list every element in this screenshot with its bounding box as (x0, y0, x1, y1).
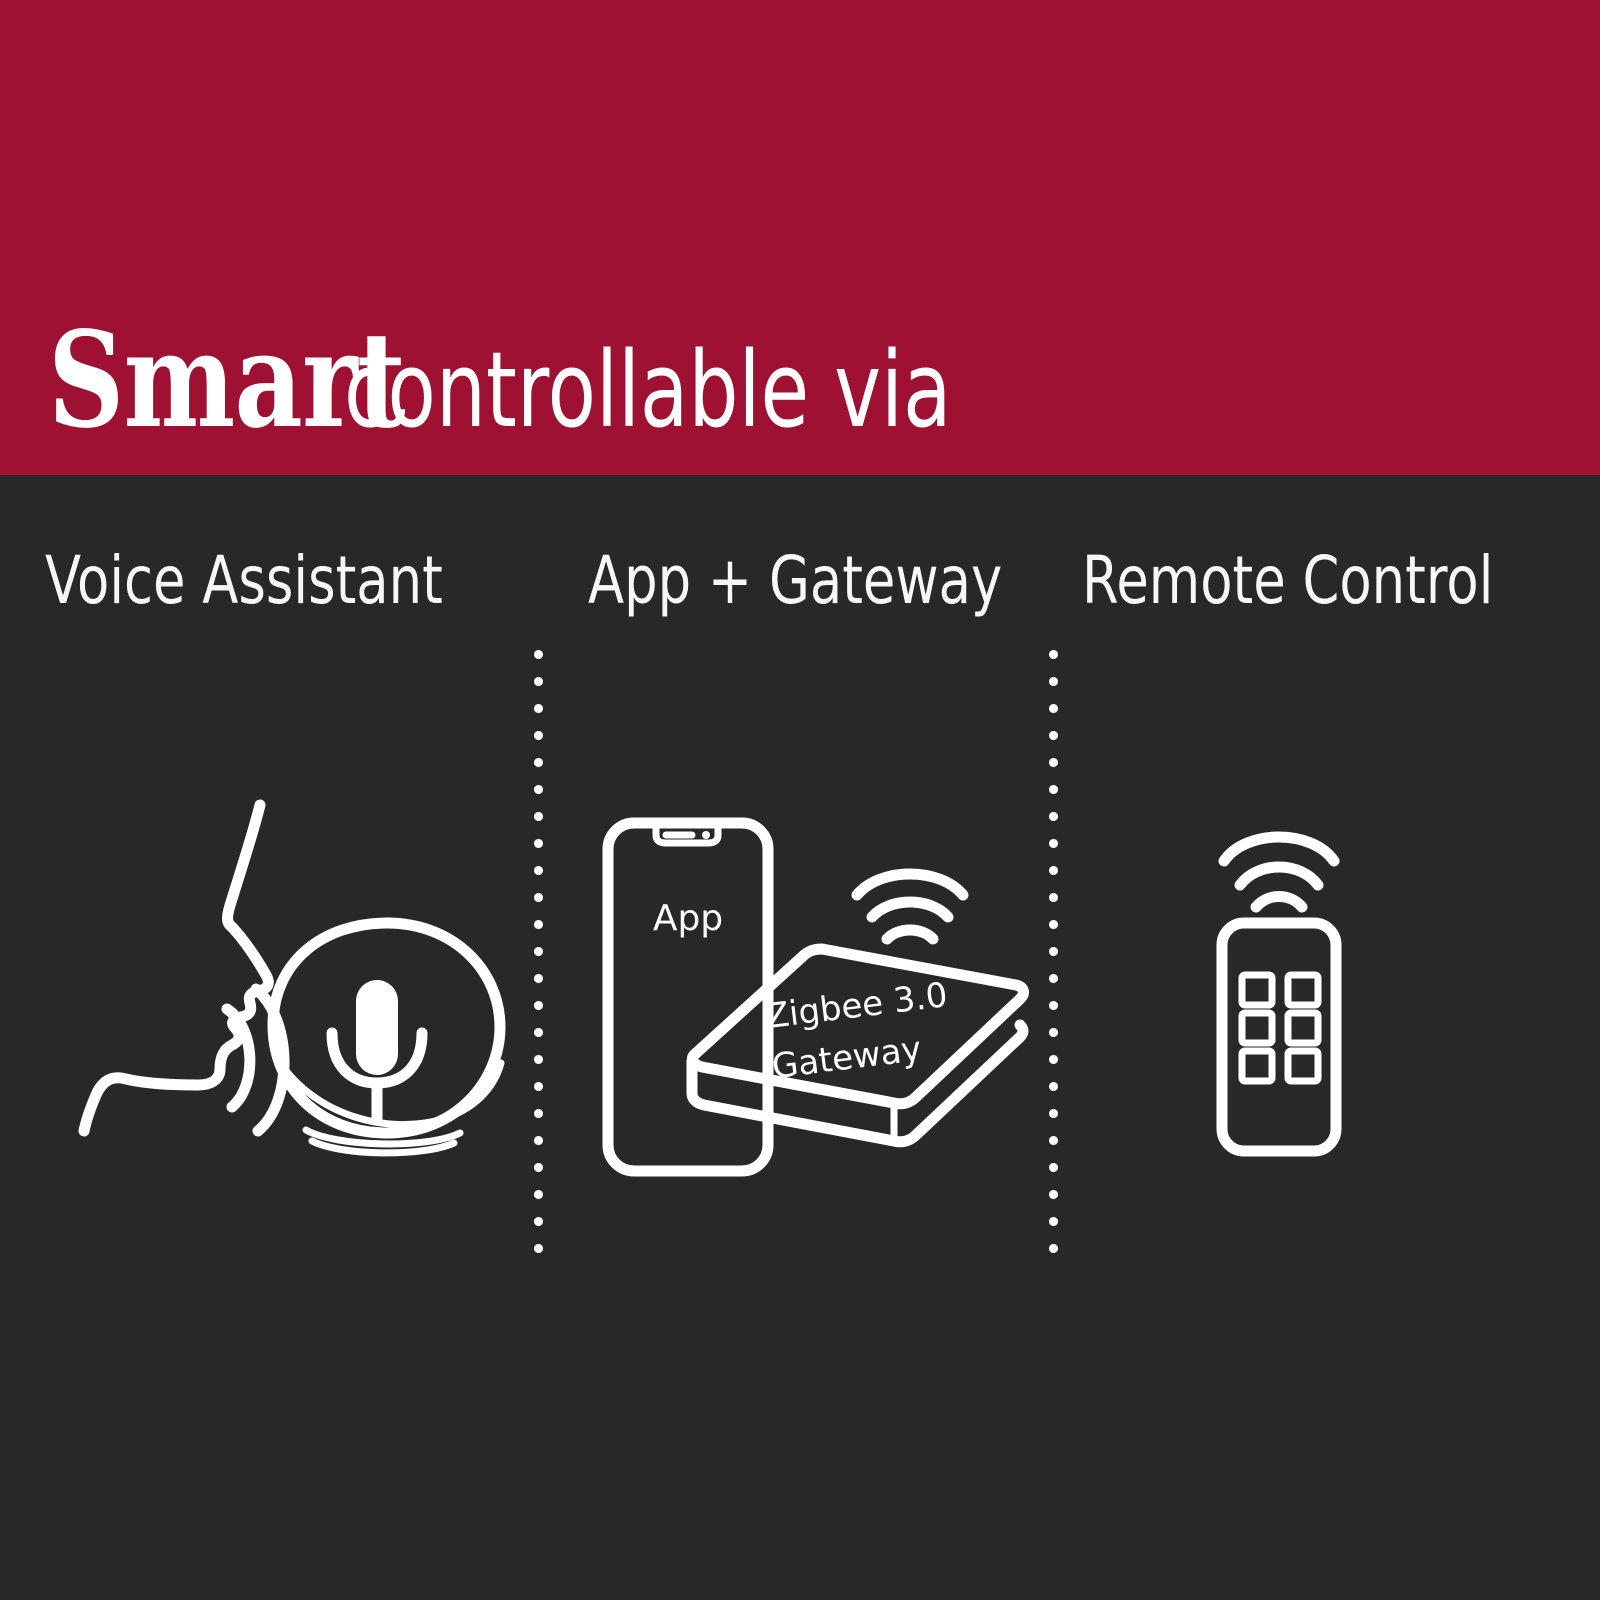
page-title: Smartcontrollable via (48, 315, 1143, 447)
face-profile-icon (84, 805, 268, 1131)
page-title-light: controllable via (344, 338, 951, 442)
column-divider-1 (534, 650, 543, 1260)
gateway-label-line2: Gateway (770, 1029, 924, 1087)
smart-control-infographic: Smartcontrollable via Voice Assistant Ap… (0, 0, 1600, 1600)
app-gateway-illustration: App Zigbee 3.0 Gateway (580, 785, 1050, 1185)
header-band: Smartcontrollable via (0, 0, 1600, 475)
phone-app-label: App (653, 898, 723, 939)
gateway-label-line1: Zigbee 3.0 (764, 975, 950, 1037)
column-heading-voice-assistant: Voice Assistant (45, 548, 443, 614)
remote-button-3 (1242, 1013, 1272, 1043)
remote-button-2 (1288, 975, 1318, 1005)
column-heading-remote-control: Remote Control (1082, 548, 1493, 614)
remote-button-1 (1242, 975, 1272, 1005)
remote-button-4 (1288, 1013, 1318, 1043)
remote-button-5 (1242, 1051, 1272, 1081)
column-divider-2 (1049, 650, 1058, 1260)
signal-wave-icon (1224, 837, 1334, 907)
wifi-icon (857, 874, 963, 939)
column-heading-app-gateway: App + Gateway (588, 548, 1002, 614)
gateway-box-icon: Zigbee 3.0 Gateway (692, 949, 1023, 1142)
voice-assistant-illustration (60, 775, 530, 1175)
microphone-icon (332, 980, 422, 1120)
remote-button-6 (1288, 1051, 1318, 1081)
remote-control-illustration (1180, 795, 1410, 1155)
remote-control-icon (1222, 923, 1336, 1151)
smartphone-icon: App (608, 823, 768, 1171)
